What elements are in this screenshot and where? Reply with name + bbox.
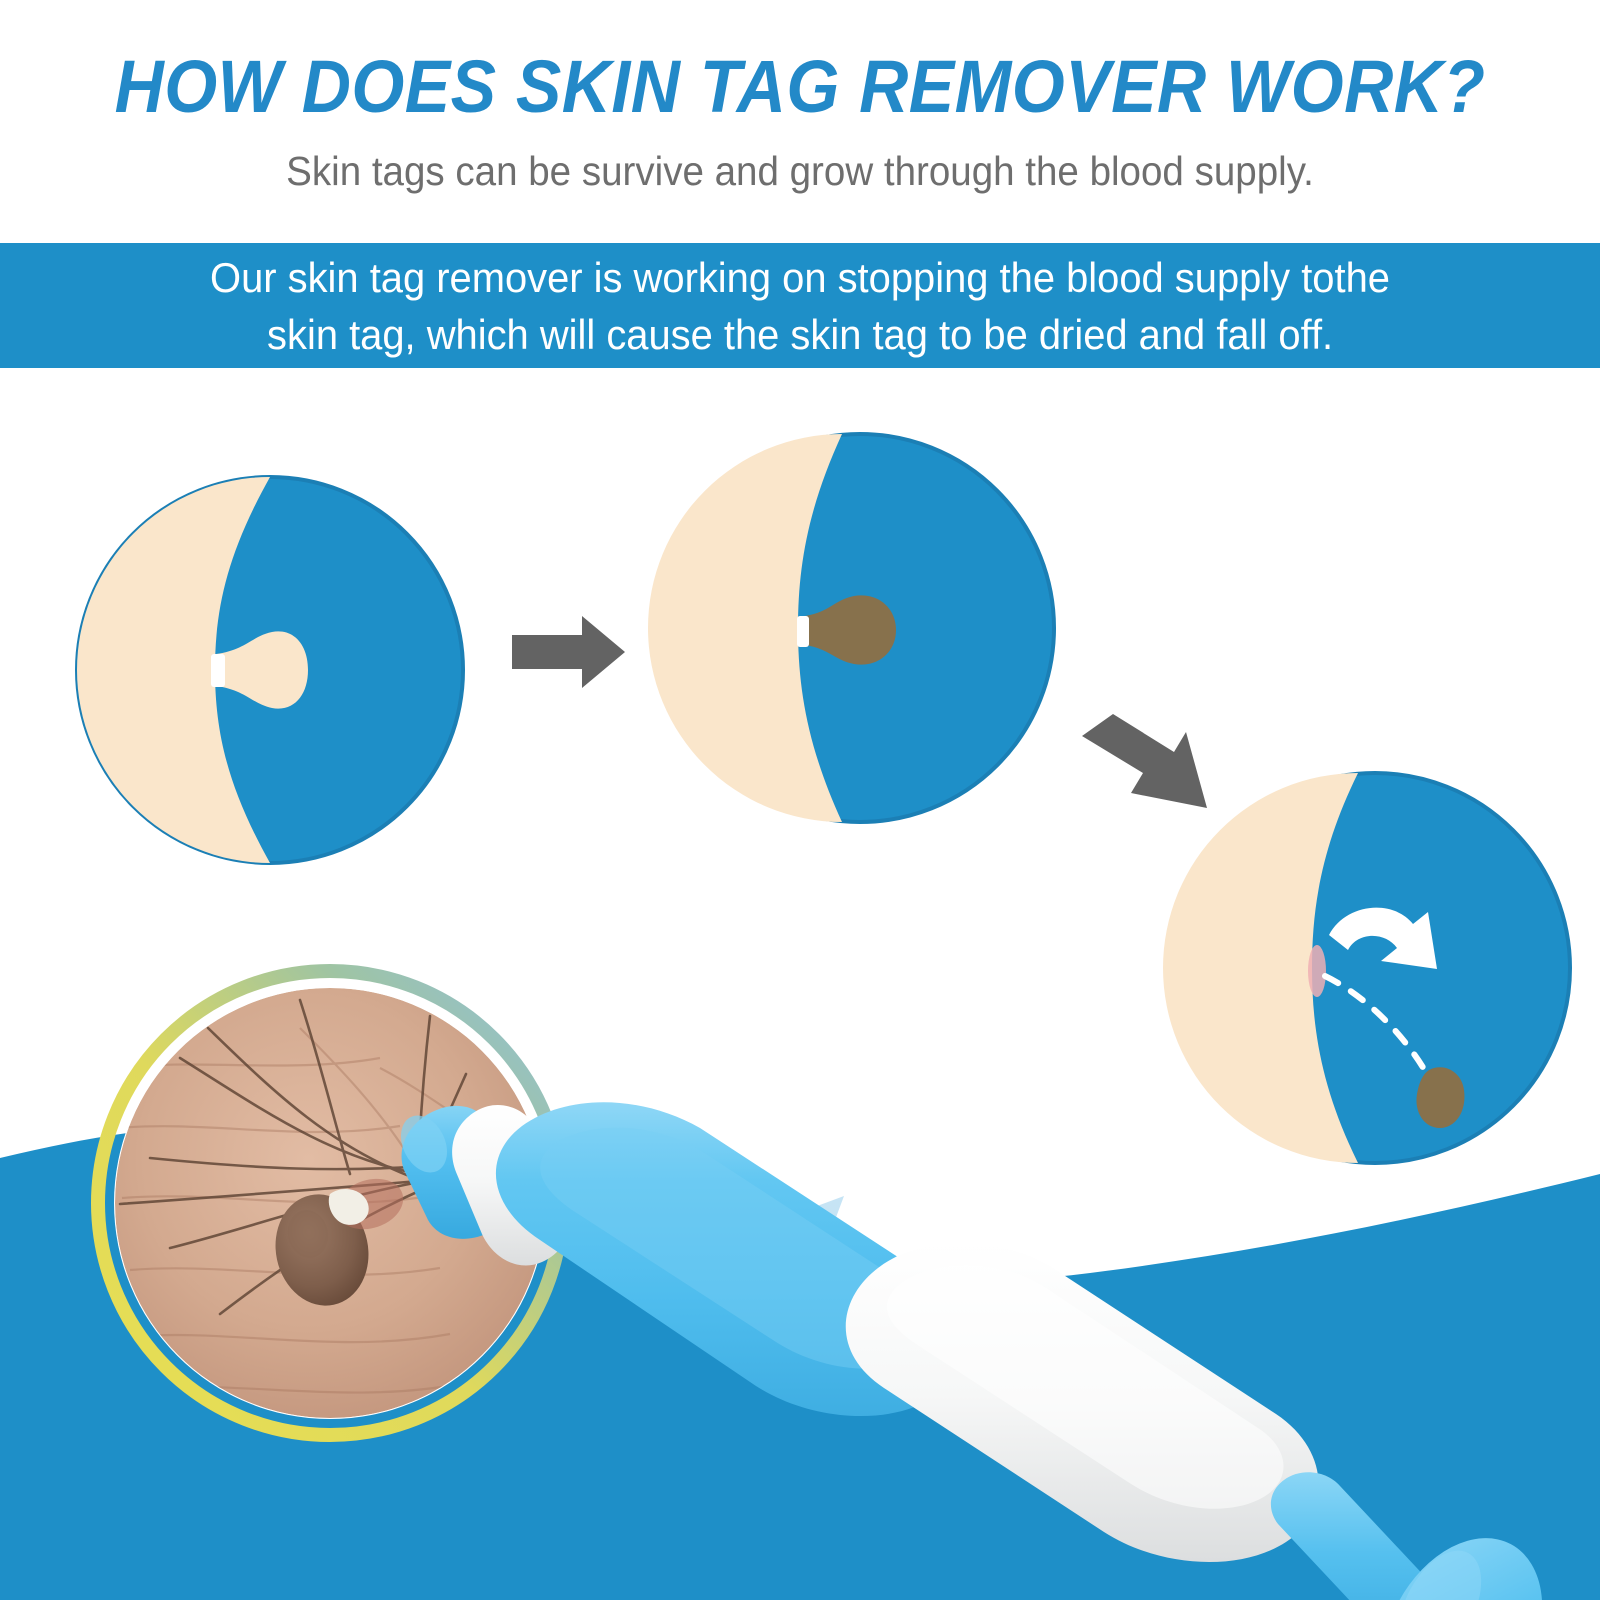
- page-subtitle: Skin tags can be survive and grow throug…: [48, 148, 1552, 195]
- arrow-down-right-icon: [1082, 714, 1207, 808]
- infographic-page: HOW DOES SKIN TAG REMOVER WORK? Skin tag…: [0, 0, 1600, 1600]
- step-3-healing-mark: [1308, 945, 1326, 997]
- arrow-step2-to-step3: [1082, 714, 1207, 808]
- blue-banner: Our skin tag remover is working on stopp…: [0, 243, 1600, 368]
- diagram-stage: [0, 368, 1600, 1600]
- step-3-fallen-skin-tag: [1416, 1067, 1464, 1128]
- step-1-circle: [77, 477, 463, 863]
- banner-line-2: skin tag, which will cause the skin tag …: [267, 306, 1333, 363]
- step-2-remover-band: [797, 616, 809, 647]
- banner-line-1: Our skin tag remover is working on stopp…: [210, 249, 1390, 306]
- step-1-remover-band: [211, 654, 225, 687]
- page-title: HOW DOES SKIN TAG REMOVER WORK?: [64, 44, 1536, 129]
- diagram-canvas: [0, 368, 1600, 1600]
- arrow-step1-to-step2: [512, 616, 625, 688]
- step-2-circle: [648, 434, 1054, 822]
- header-block: HOW DOES SKIN TAG REMOVER WORK? Skin tag…: [0, 0, 1600, 243]
- arrow-right-icon: [512, 616, 625, 688]
- step-3-circle: [1163, 773, 1570, 1163]
